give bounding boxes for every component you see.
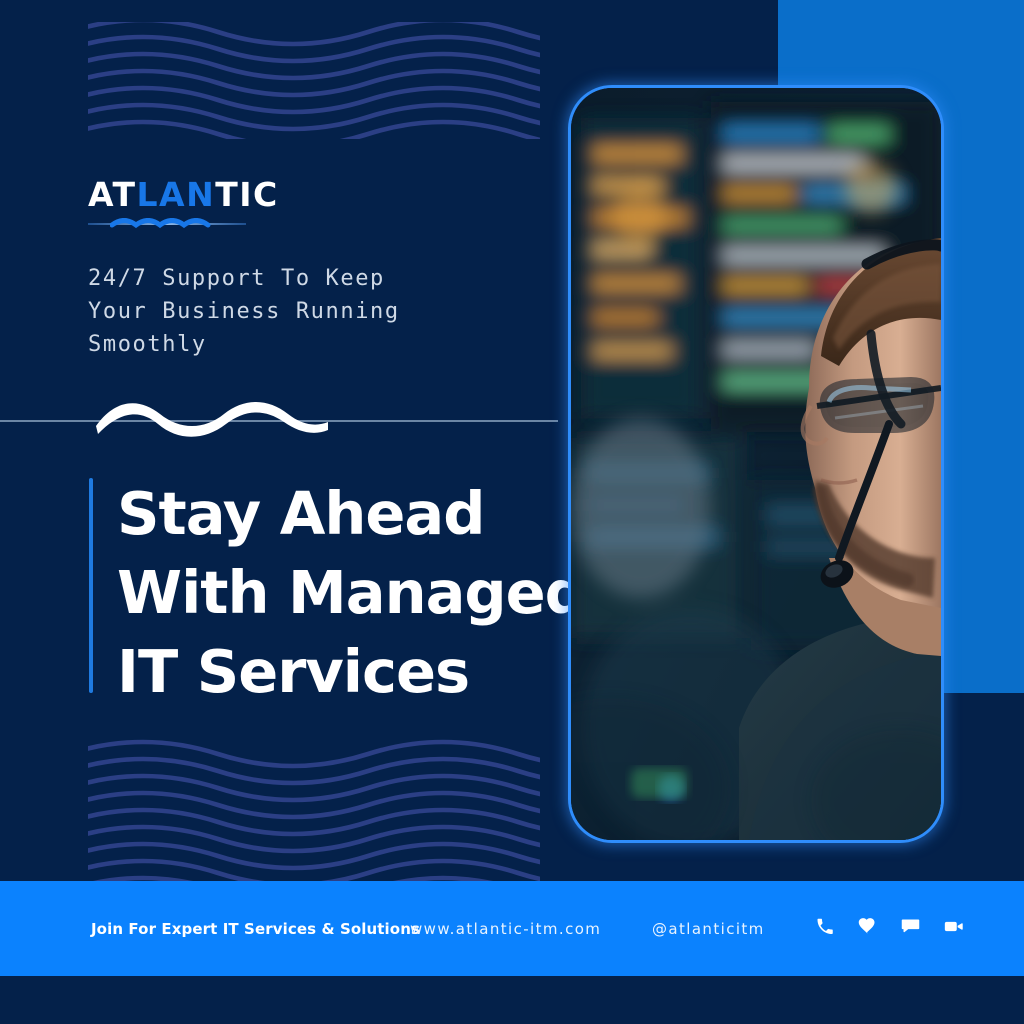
brand-logo[interactable]: ATLANTIC [88, 178, 279, 230]
phone-icon[interactable] [815, 916, 835, 941]
logo-wordmark: ATLANTIC [88, 178, 279, 211]
footer-website-link[interactable]: www.atlantic-itm.com [410, 920, 601, 938]
footer-social-handle[interactable]: @atlanticitm [652, 920, 765, 938]
poster-canvas: ATLANTIC 24/7 Support To Keep Your Busin… [0, 0, 1024, 1024]
footer-icon-group [815, 915, 965, 942]
support-agent-photo [571, 88, 941, 840]
page-title: Stay Ahead With Managed IT Services [117, 474, 587, 711]
logo-part-tic: TIC [215, 175, 279, 214]
logo-underline-decor [88, 218, 246, 230]
footer-cta-text: Join For Expert IT Services & Solutions [91, 920, 420, 938]
divider-wave-icon [92, 400, 340, 442]
logo-wave-icon [110, 218, 230, 230]
chat-icon[interactable] [900, 916, 921, 942]
footer-bar: Join For Expert IT Services & Solutions … [0, 881, 1024, 976]
tagline-text: 24/7 Support To Keep Your Business Runni… [88, 262, 508, 361]
phone-mockup[interactable] [568, 85, 944, 843]
headline-accent-bar [89, 478, 93, 693]
video-camera-icon[interactable] [943, 915, 965, 942]
wave-divider [0, 400, 558, 442]
logo-part-lan: LAN [137, 175, 216, 214]
wave-pattern-top [88, 22, 540, 139]
heart-icon[interactable] [857, 916, 878, 942]
logo-part-at: AT [88, 175, 137, 214]
wave-pattern-bottom [88, 736, 540, 881]
